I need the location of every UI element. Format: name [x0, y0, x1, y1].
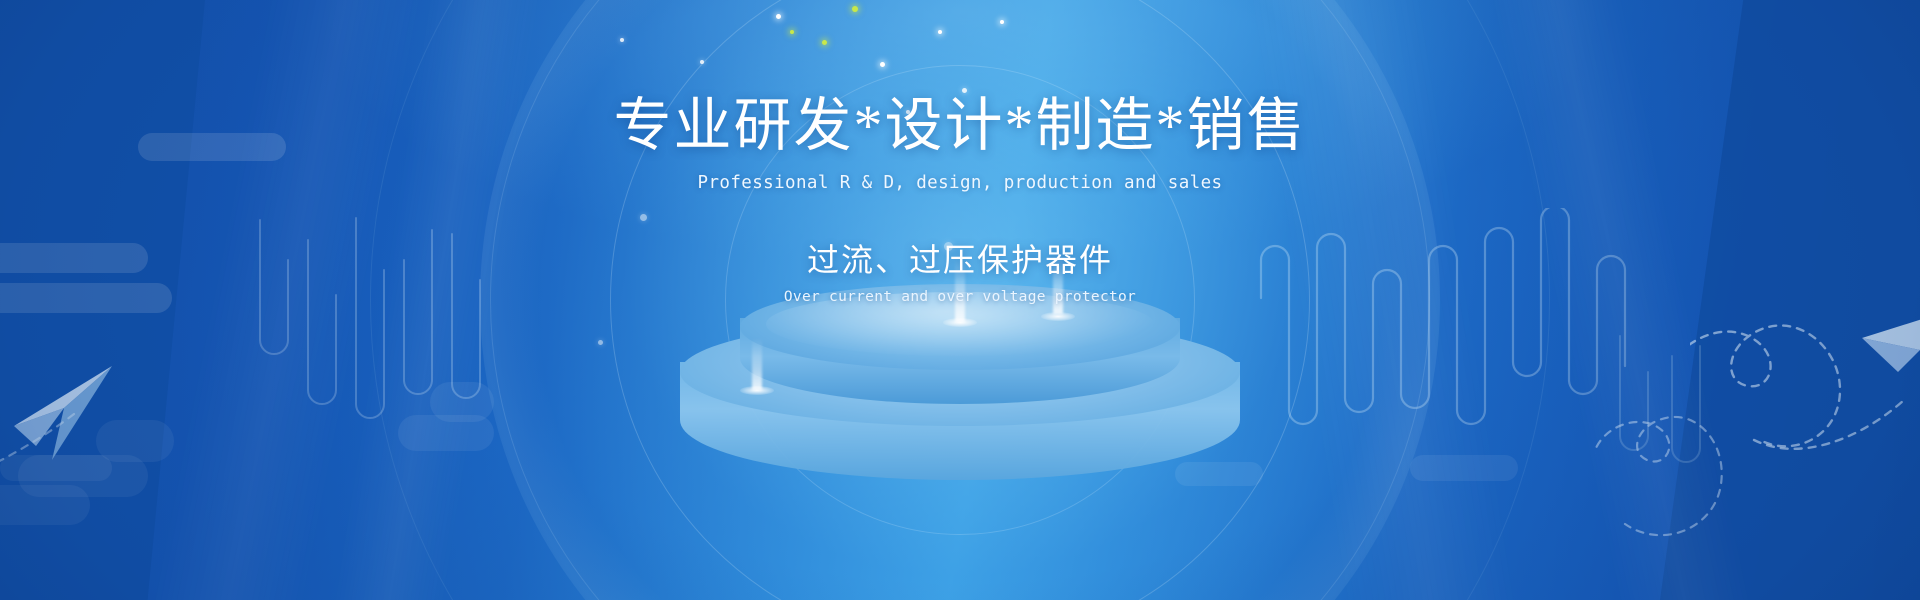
subheadline-chinese: 过流、过压保护器件 [0, 235, 1920, 281]
subheadline-english: Over current and over voltage protector [0, 289, 1920, 305]
headline-chinese: 专业研发*设计*制造*销售 [0, 96, 1920, 157]
hero-copy: 专业研发*设计*制造*销售 Professional R & D, design… [0, 96, 1920, 305]
hero-banner: 专业研发*设计*制造*销售 Professional R & D, design… [0, 0, 1920, 600]
headline-english: Professional R & D, design, production a… [0, 173, 1920, 193]
